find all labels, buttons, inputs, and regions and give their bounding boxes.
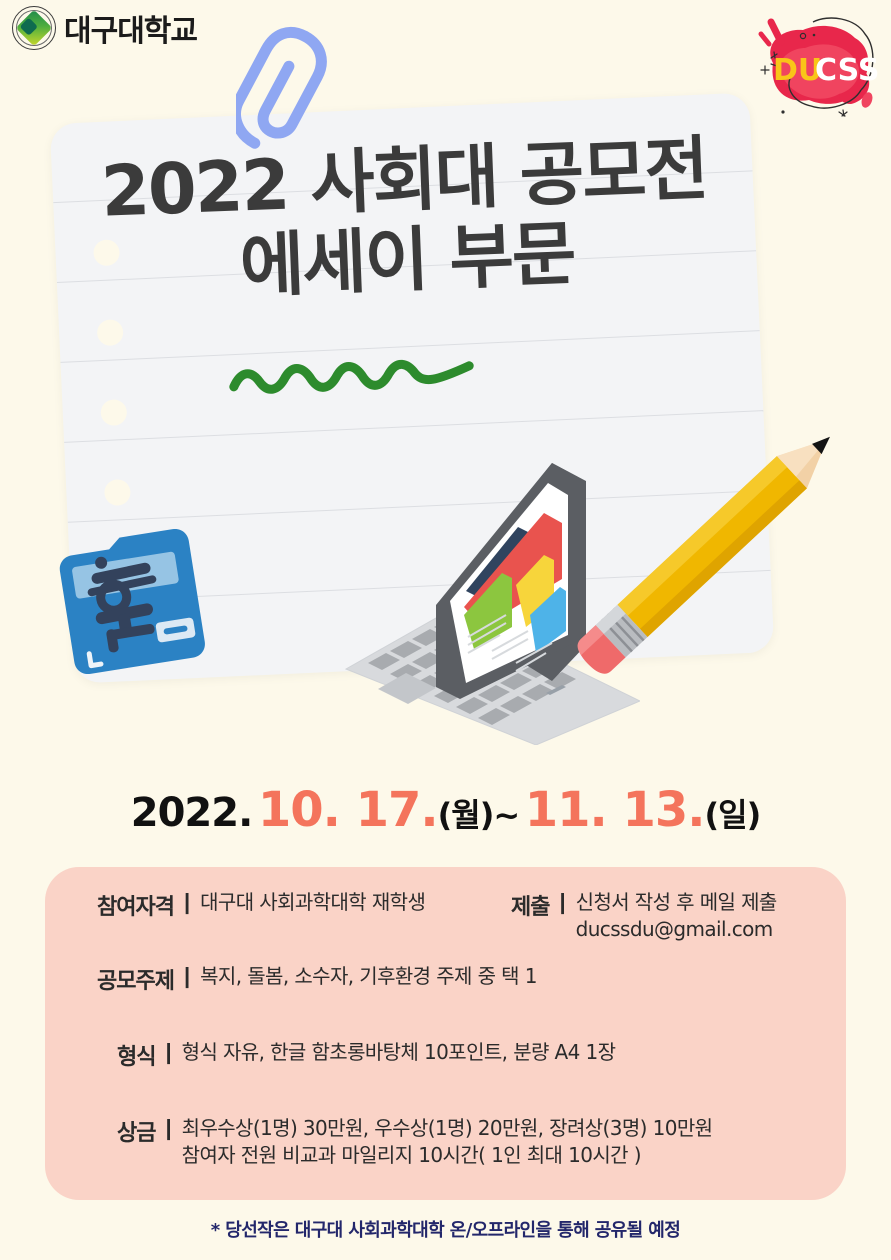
info-divider-topic: | [184, 963, 190, 989]
event-date-line: 2022. 10. 17.(월)~ 11. 13.(일) [0, 782, 891, 838]
info-row-format: 형식 | 형식 자유, 한글 함초롱바탕체 10포인트, 분량 A4 1장 [117, 1039, 615, 1071]
info-divider-eligibility: | [184, 889, 190, 915]
footnote: * 당선작은 대구대 사회과학대학 온/오프라인을 통해 공유될 예정 [0, 1216, 891, 1242]
date-start: 10. 17. [258, 782, 438, 838]
date-end: 11. 13. [525, 782, 705, 838]
blue-document-card-icon: 훈 [50, 523, 220, 685]
info-divider-submission: | [559, 889, 565, 915]
submission-email: ducssdu@gmail.com [576, 917, 773, 941]
info-label-topic: 공모주제 [97, 963, 174, 995]
info-row-prize: 상금 | 최우수상(1명) 30만원, 우수상(1명) 20만원, 장려상(3명… [117, 1115, 712, 1169]
info-row-topic: 공모주제 | 복지, 돌봄, 소수자, 기후환경 주제 중 택 1 [97, 963, 537, 995]
paperclip-icon [236, 22, 356, 152]
date-year: 2022. [131, 790, 253, 836]
university-logo: 대구대학교 [12, 6, 197, 50]
info-value-prize-mileage: 참여자 전원 비교과 마일리지 10시간( 1인 최대 10시간 ) [182, 1143, 641, 1167]
info-value-submission: 신청서 작성 후 메일 제출 [576, 890, 777, 914]
info-panel: 참여자격 | 대구대 사회과학대학 재학생 제출 | 신청서 작성 후 메일 제… [45, 867, 846, 1200]
university-name: 대구대학교 [64, 6, 197, 50]
info-label-format: 형식 [117, 1039, 155, 1071]
info-label-eligibility: 참여자격 [97, 889, 174, 921]
info-label-prize: 상금 [117, 1115, 155, 1147]
date-start-day: (월)~ [438, 796, 520, 834]
date-end-day: (일) [705, 796, 761, 834]
info-divider-prize: | [165, 1115, 171, 1141]
pencil-illustration [545, 375, 875, 725]
poster-canvas: 대구대학교 DU CSS [0, 0, 891, 1260]
info-label-submission: 제출 [511, 889, 549, 921]
info-value-topic: 복지, 돌봄, 소수자, 기후환경 주제 중 택 1 [200, 963, 537, 990]
info-row-submission: 제출 | 신청서 작성 후 메일 제출 ducssdu@gmail.com [511, 889, 777, 943]
ducss-club-logo: DU CSS [743, 8, 883, 126]
info-divider-format: | [165, 1039, 171, 1065]
info-value-format: 형식 자유, 한글 함초롱바탕체 10포인트, 분량 A4 1장 [182, 1039, 616, 1066]
university-seal-icon [12, 6, 56, 50]
svg-text:CSS: CSS [815, 53, 879, 88]
info-row-eligibility: 참여자격 | 대구대 사회과학대학 재학생 [97, 889, 425, 921]
info-value-prize: 최우수상(1명) 30만원, 우수상(1명) 20만원, 장려상(3명) 10만… [182, 1116, 713, 1140]
info-value-eligibility: 대구대 사회과학대학 재학생 [200, 889, 425, 916]
